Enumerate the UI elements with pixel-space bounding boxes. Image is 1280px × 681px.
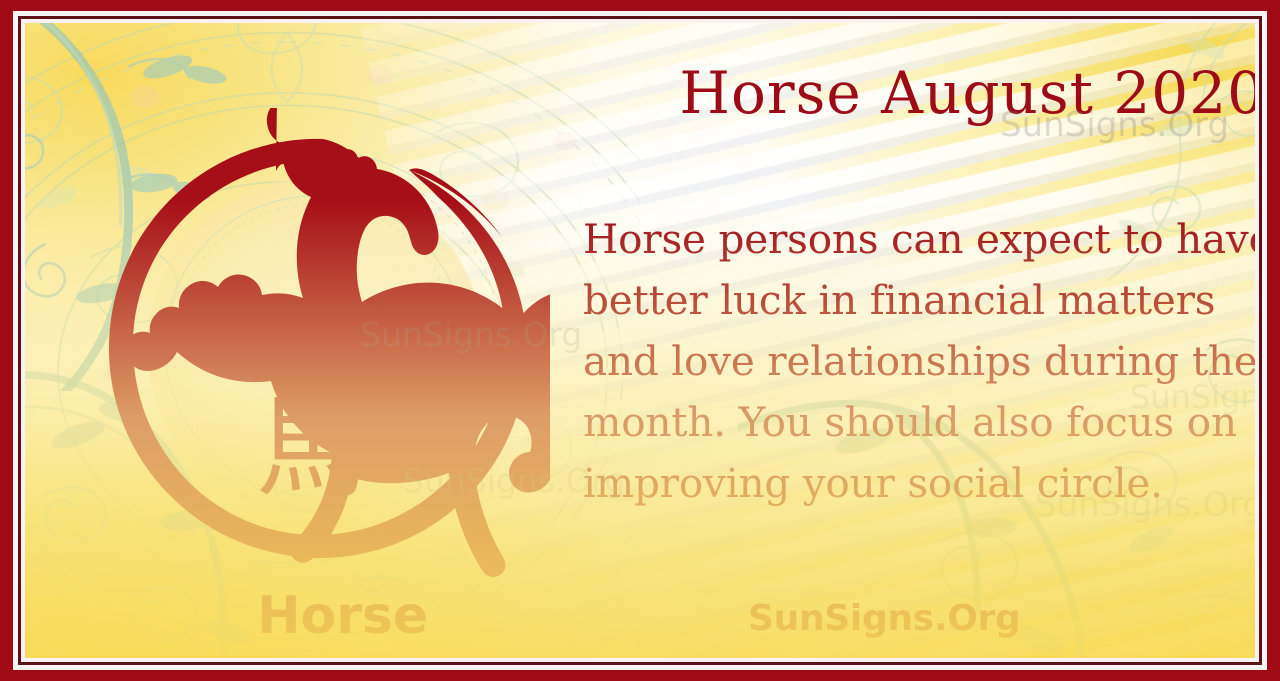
- zodiac-sign-name: Horse: [257, 586, 428, 646]
- card-canvas: 馬 Horse August 2020 Horse persons can ex…: [25, 23, 1255, 658]
- page-title: Horse August 2020: [553, 63, 1255, 124]
- zodiac-horse-emblem-icon: 馬: [80, 108, 550, 578]
- brand-logo-text: SunSigns.Org: [748, 598, 1020, 639]
- horoscope-body-text: Horse persons can expect to have better …: [583, 209, 1255, 514]
- zodiac-horse-emblem: 馬: [80, 108, 550, 578]
- horoscope-card: 馬 Horse August 2020 Horse persons can ex…: [0, 0, 1280, 681]
